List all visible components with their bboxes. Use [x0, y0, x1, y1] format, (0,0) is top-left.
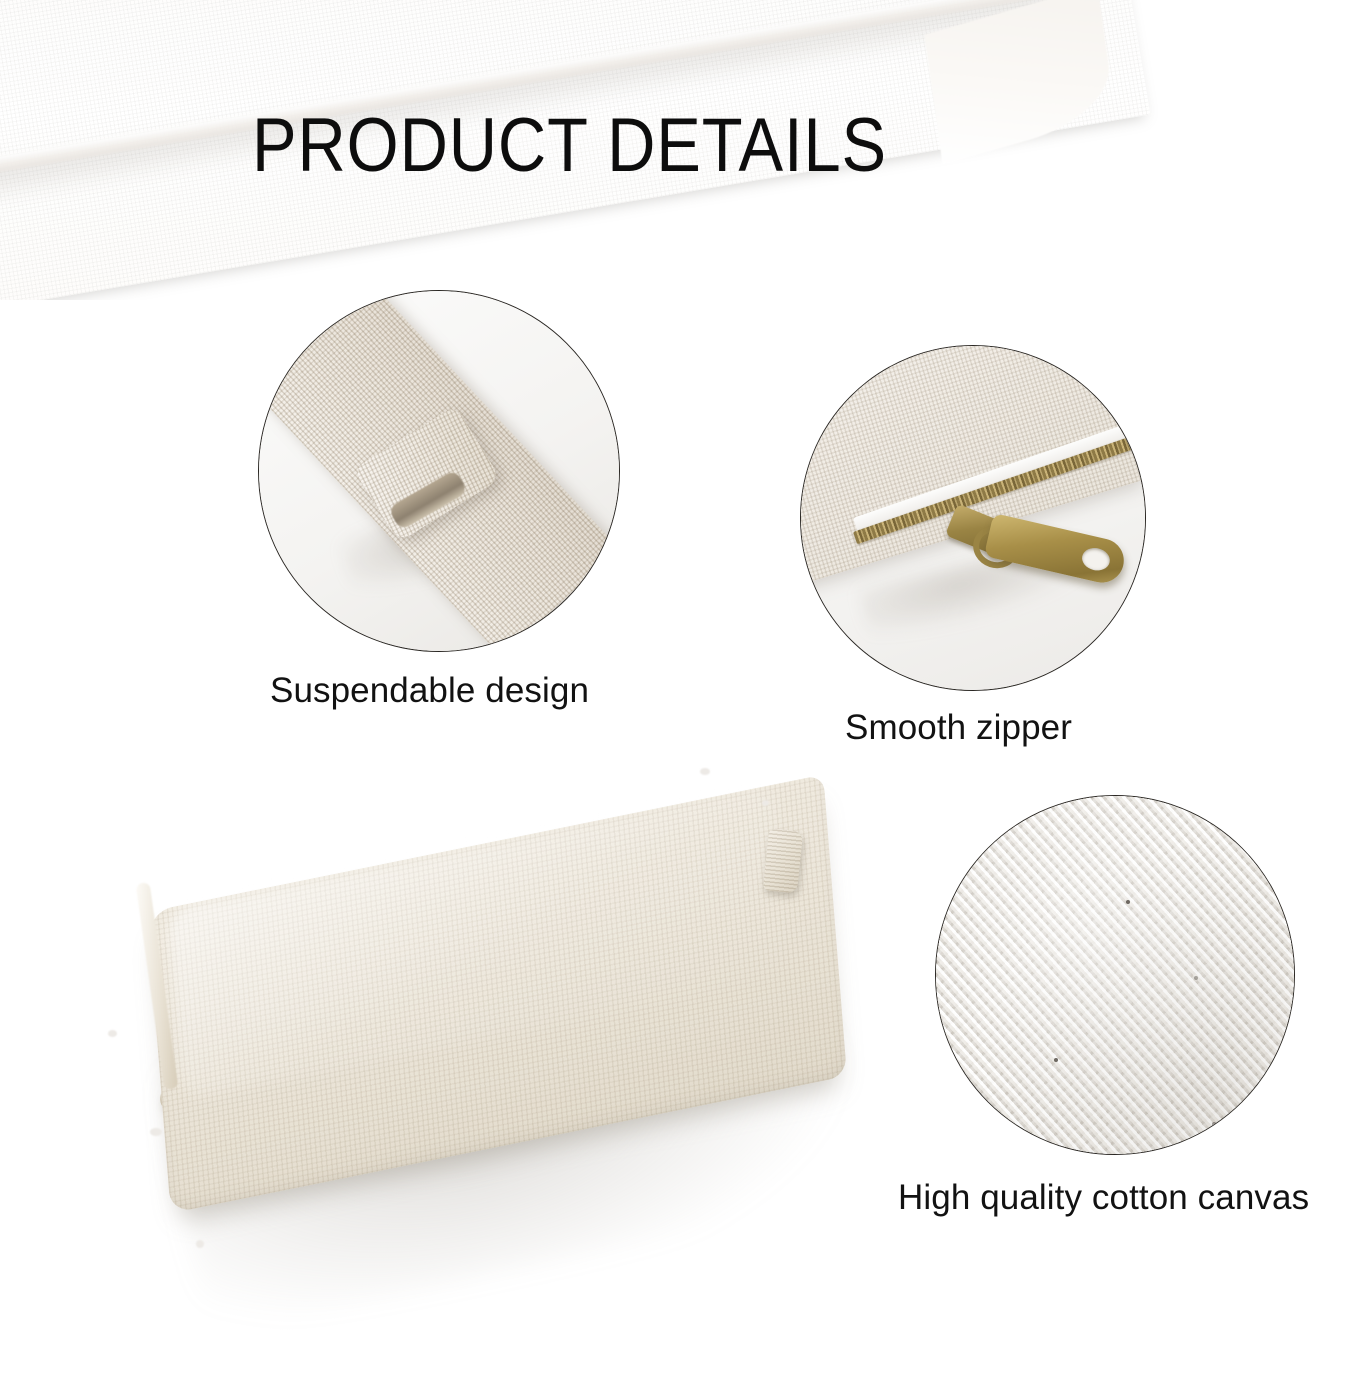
detail-label-smooth-zipper: Smooth zipper [845, 708, 1072, 748]
product-details-page: PRODUCT DETAILS Suspendable design Smoot… [0, 0, 1362, 1393]
zipper-pull-hole [1080, 545, 1112, 573]
detail-photo-smooth-zipper [800, 345, 1146, 691]
surface-speck [108, 1030, 117, 1037]
canvas-fleck [1126, 900, 1130, 904]
detail-photo-cotton-canvas [935, 795, 1295, 1155]
canvas-fleck [1054, 1058, 1058, 1062]
surface-speck [762, 800, 769, 806]
canvas-fleck [1194, 976, 1198, 980]
page-title: PRODUCT DETAILS [252, 108, 868, 184]
product-photo-canvas-pouch [128, 786, 888, 1296]
canvas-lighting-sheen [936, 796, 1294, 1154]
detail-photo-suspendable-design [258, 290, 620, 652]
pouch-hanging-loop-tab [763, 828, 803, 893]
detail-label-cotton-canvas: High quality cotton canvas [898, 1178, 1309, 1218]
surface-speck [150, 1128, 162, 1136]
canvas-fleck [1212, 1122, 1216, 1126]
surface-speck [700, 768, 710, 775]
detail-label-suspendable-design: Suspendable design [270, 671, 589, 711]
surface-speck [196, 1240, 204, 1248]
